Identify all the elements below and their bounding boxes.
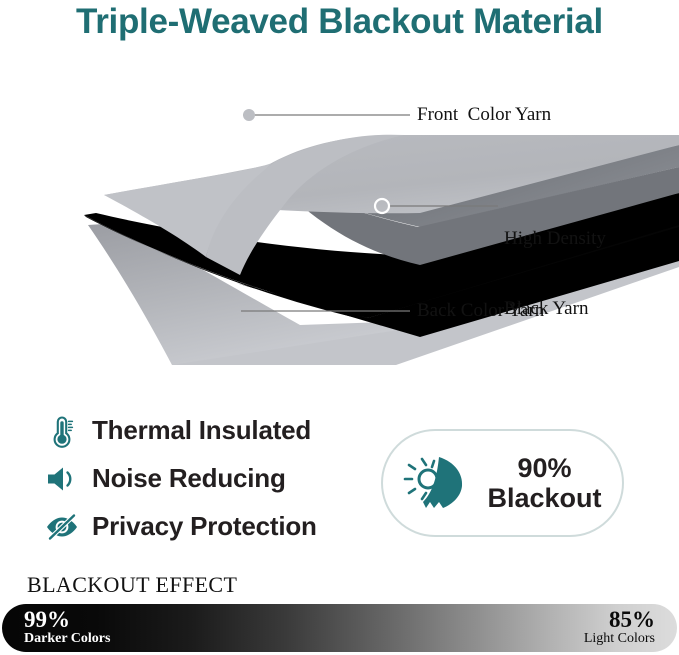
blackout-badge-text: 90% Blackout	[475, 453, 622, 513]
eye-slash-icon	[44, 509, 80, 545]
diagram-label-back-color-yarn: Back Color Yarn	[417, 299, 544, 322]
blackout-stat-light-caption: Light Colors	[584, 632, 655, 647]
blackout-effect-gradient-bar: 99% Darker Colors 85% Light Colors	[2, 604, 677, 652]
blackout-stat-light-colors: 85% Light Colors	[584, 608, 655, 646]
feature-label-noise-reducing: Noise Reducing	[92, 463, 286, 494]
blackout-badge: 90% Blackout	[381, 429, 624, 537]
feature-privacy-protection: Privacy Protection	[44, 504, 374, 549]
thermometer-icon	[44, 413, 80, 449]
feature-label-thermal-insulated: Thermal Insulated	[92, 415, 311, 446]
blackout-badge-value: 90%	[517, 453, 571, 483]
blackout-stat-darker-value: 99%	[24, 608, 110, 632]
diagram-label-high-density-line1: High Density	[504, 227, 606, 250]
features-list: Thermal Insulated Noise Reducing Privacy…	[44, 408, 374, 552]
feature-thermal-insulated: Thermal Insulated	[44, 408, 374, 453]
page-title: Triple-Weaved Blackout Material	[0, 2, 679, 42]
feature-label-privacy-protection: Privacy Protection	[92, 511, 317, 542]
blackout-stat-darker-colors: 99% Darker Colors	[24, 608, 110, 646]
blackout-stat-darker-caption: Darker Colors	[24, 632, 110, 647]
sun-behind-curtain-icon	[401, 450, 475, 516]
blackout-effect-heading: BLACKOUT EFFECT	[27, 572, 237, 598]
front-marker-dot	[243, 109, 255, 121]
feature-noise-reducing: Noise Reducing	[44, 456, 374, 501]
diagram-label-front-color-yarn: Front Color Yarn	[417, 103, 551, 126]
blackout-badge-caption: Blackout	[487, 483, 601, 513]
speaker-icon	[44, 461, 80, 497]
blackout-stat-light-value: 85%	[584, 608, 655, 632]
